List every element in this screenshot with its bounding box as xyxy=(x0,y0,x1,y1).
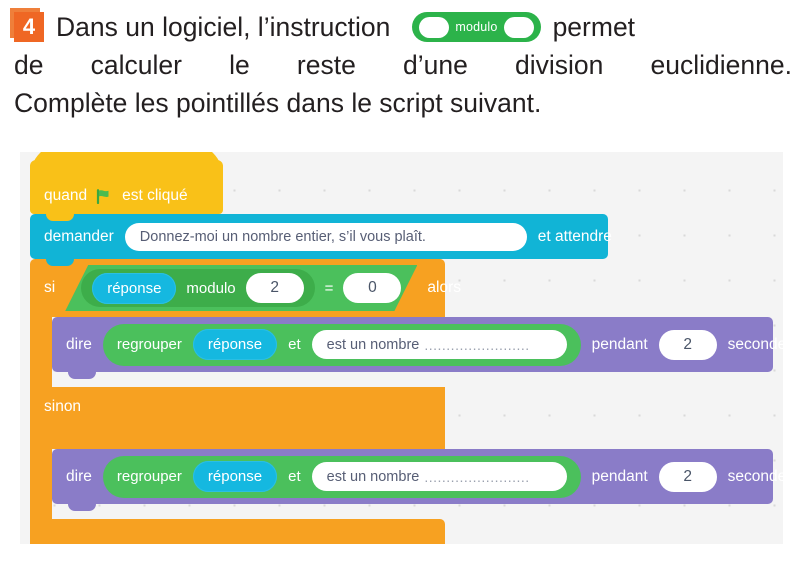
modulo-left-slot xyxy=(419,17,449,38)
for-label: pendant xyxy=(592,336,648,354)
block-notch xyxy=(46,258,74,266)
for-label: pendant xyxy=(592,468,648,486)
equals-label: = xyxy=(325,280,334,297)
seconds-input-else[interactable]: 2 xyxy=(659,462,717,492)
exercise-number: 4 xyxy=(14,12,44,42)
statement-line1-text2: permet xyxy=(553,8,635,46)
statement-word: division xyxy=(515,46,603,84)
block-stack: quand est cliqué demander Donnez-moi un … xyxy=(30,160,773,544)
exercise-statement: 4 Dans un logiciel, l’instruction modulo… xyxy=(14,8,792,122)
if-then-branch: dire regrouper réponse et est un nombre … xyxy=(30,317,773,387)
join-text-input-then[interactable]: est un nombre ........................ xyxy=(312,330,567,359)
block-equals-condition[interactable]: réponse modulo 2 = 0 xyxy=(65,265,417,311)
ask-label: demander xyxy=(44,228,114,246)
when-label: quand xyxy=(44,187,87,205)
block-notch xyxy=(68,503,96,511)
reporter-answer[interactable]: réponse xyxy=(193,461,277,492)
statement-word: le xyxy=(229,46,250,84)
say-label: dire xyxy=(66,468,92,486)
if-else-branch: dire regrouper réponse et est un nombre … xyxy=(30,449,773,519)
block-join-else[interactable]: regrouper réponse et est un nombre .....… xyxy=(103,456,581,498)
statement-line-1: 4 Dans un logiciel, l’instruction modulo… xyxy=(14,8,792,46)
join-label: regrouper xyxy=(117,336,182,353)
statement-word: euclidienne. xyxy=(651,46,792,84)
inline-modulo-label: modulo xyxy=(455,8,497,46)
condition-row: réponse modulo 2 = 0 xyxy=(81,265,401,311)
reporter-answer[interactable]: réponse xyxy=(92,273,176,304)
seconds-label: secondes xyxy=(728,468,783,486)
statement-line1-text1: Dans un logiciel, l’instruction xyxy=(56,8,390,46)
join-text-input-else[interactable]: est un nombre ........................ xyxy=(312,462,567,491)
exercise-number-badge: 4 xyxy=(14,12,44,42)
block-if-else[interactable]: si réponse modulo 2 = 0 alors xyxy=(30,259,773,544)
block-join-then[interactable]: regrouper réponse et est un nombre .....… xyxy=(103,324,581,366)
block-notch xyxy=(46,213,74,221)
block-say-for-seconds-else[interactable]: dire regrouper réponse et est un nombre … xyxy=(52,449,773,504)
block-say-for-seconds-then[interactable]: dire regrouper réponse et est un nombre … xyxy=(52,317,773,372)
reporter-answer[interactable]: réponse xyxy=(193,329,277,360)
if-label: si xyxy=(44,279,55,297)
block-notch xyxy=(68,371,96,379)
join-label: regrouper xyxy=(117,468,182,485)
if-block-footer xyxy=(30,519,445,544)
join-text-value: est un nombre xyxy=(327,469,420,485)
inline-modulo-block: modulo xyxy=(412,12,540,42)
and-label: et xyxy=(288,336,301,353)
ask-question-input[interactable]: Donnez-moi un nombre entier, s’il vous p… xyxy=(125,223,527,251)
modulo-right-slot xyxy=(504,17,534,38)
join-text-value: est un nombre xyxy=(327,337,420,353)
fill-in-blank-dots: ........................ xyxy=(424,469,529,485)
script-canvas[interactable]: quand est cliqué demander Donnez-moi un … xyxy=(20,152,783,544)
statement-word: reste xyxy=(297,46,356,84)
clicked-label: est cliqué xyxy=(122,187,187,205)
compare-value-input[interactable]: 0 xyxy=(343,273,401,303)
ask-wait-label: et attendre xyxy=(538,228,612,246)
green-flag-icon xyxy=(96,189,113,204)
statement-line-2: de calculer le reste d’une division eucl… xyxy=(14,46,792,84)
else-header[interactable]: sinon xyxy=(30,387,445,449)
statement-word: d’une xyxy=(403,46,468,84)
block-modulo-operator[interactable]: réponse modulo 2 xyxy=(81,269,314,307)
statement-line-3: Complète les pointillés dans le script s… xyxy=(14,84,792,122)
statement-word: calculer xyxy=(91,46,182,84)
then-label: alors xyxy=(427,279,461,297)
seconds-label: secondes xyxy=(728,336,783,354)
if-header[interactable]: si réponse modulo 2 = 0 alors xyxy=(30,259,445,317)
say-label: dire xyxy=(66,336,92,354)
if-left-spine xyxy=(30,317,52,387)
block-when-flag-clicked[interactable]: quand est cliqué xyxy=(30,160,223,214)
seconds-input-then[interactable]: 2 xyxy=(659,330,717,360)
modulo-label: modulo xyxy=(186,280,235,297)
statement-word: de xyxy=(14,46,43,84)
else-label: sinon xyxy=(44,398,81,416)
block-ask-and-wait[interactable]: demander Donnez-moi un nombre entier, s’… xyxy=(30,214,608,259)
fill-in-blank-dots: ........................ xyxy=(424,337,529,353)
and-label: et xyxy=(288,468,301,485)
else-left-spine xyxy=(30,449,52,519)
modulo-operand-input[interactable]: 2 xyxy=(246,273,304,303)
